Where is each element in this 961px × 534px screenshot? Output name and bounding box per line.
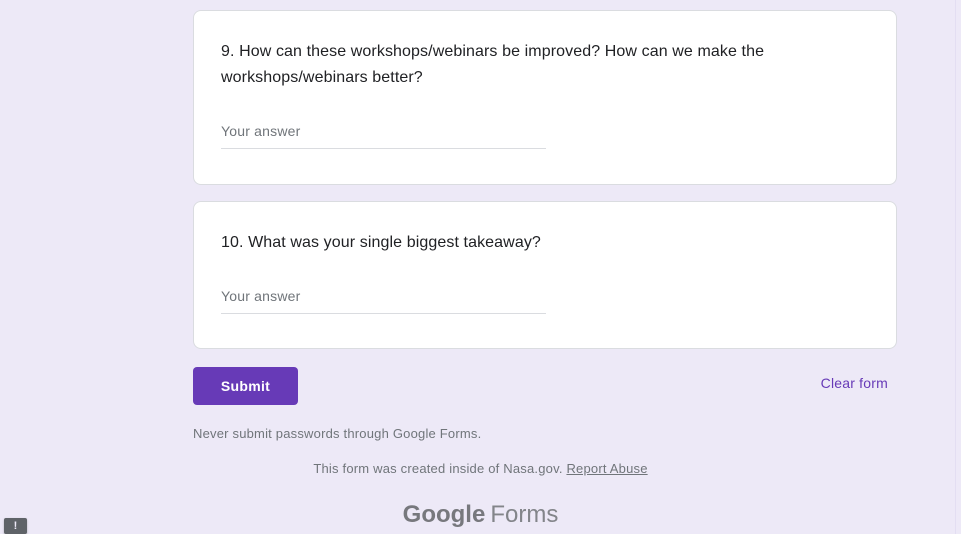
form-page: 9. How can these workshops/webinars be i…: [0, 0, 961, 534]
vertical-scrollbar[interactable]: [955, 0, 961, 534]
answer-placeholder-9: Your answer: [221, 121, 546, 141]
answer-placeholder-10: Your answer: [221, 286, 546, 306]
created-inside-notice: This form was created inside of Nasa.gov…: [0, 461, 961, 477]
form-actions-row: Submit Clear form: [193, 367, 897, 405]
clear-form-link[interactable]: Clear form: [821, 375, 888, 391]
report-abuse-link[interactable]: Report Abuse: [566, 461, 647, 476]
password-notice: Never submit passwords through Google Fo…: [193, 426, 481, 442]
submit-button[interactable]: Submit: [193, 367, 298, 405]
answer-field-10[interactable]: Your answer: [221, 286, 546, 314]
google-forms-logo: GoogleForms: [0, 500, 961, 530]
answer-field-9[interactable]: Your answer: [221, 121, 546, 149]
question-card-10: 10. What was your single biggest takeawa…: [193, 201, 897, 349]
question-title-10: 10. What was your single biggest takeawa…: [221, 226, 821, 256]
logo-forms-text: Forms: [490, 501, 558, 528]
exclamation-icon: !: [14, 521, 18, 532]
created-inside-text: This form was created inside of Nasa.gov…: [313, 461, 562, 476]
question-title-9: 9. How can these workshops/webinars be i…: [221, 35, 821, 91]
logo-google-text: Google: [403, 501, 486, 528]
status-chip[interactable]: !: [4, 518, 27, 534]
question-card-9: 9. How can these workshops/webinars be i…: [193, 10, 897, 185]
